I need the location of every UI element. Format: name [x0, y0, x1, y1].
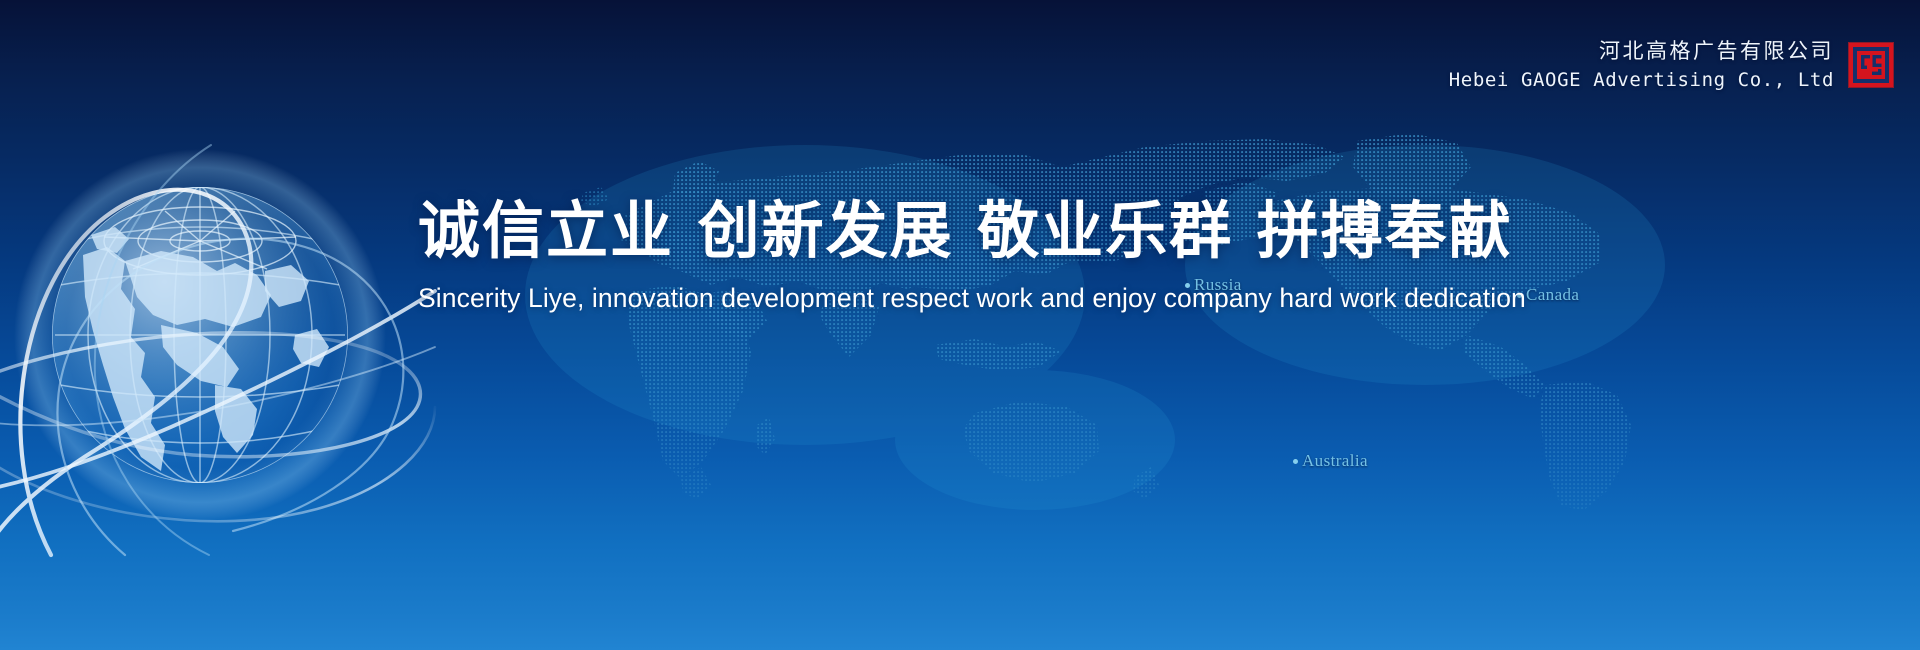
company-name-en: Hebei GAOGE Advertising Co., Ltd — [1449, 66, 1834, 95]
map-label-australia: Australia — [1293, 451, 1368, 471]
globe-graphic — [0, 85, 435, 555]
hero-text-block: 诚信立业 创新发展 敬业乐群 拼搏奉献 Sincerity Liye, inno… — [418, 196, 1478, 314]
company-name-block: 河北高格广告有限公司 Hebei GAOGE Advertising Co., … — [1449, 36, 1834, 95]
company-identity: 河北高格广告有限公司 Hebei GAOGE Advertising Co., … — [1449, 36, 1894, 95]
map-label-canada: Canada — [1517, 285, 1579, 305]
gaoge-logo-icon — [1848, 42, 1894, 88]
map-pin-dot — [1293, 459, 1298, 464]
company-banner: Russia Canada Australia — [0, 0, 1920, 650]
hero-slogan-cn: 诚信立业 创新发展 敬业乐群 拼搏奉献 — [418, 196, 1478, 265]
hero-slogan-en: Sincerity Liye, innovation development r… — [418, 283, 1478, 314]
company-name-cn: 河北高格广告有限公司 — [1449, 36, 1834, 66]
